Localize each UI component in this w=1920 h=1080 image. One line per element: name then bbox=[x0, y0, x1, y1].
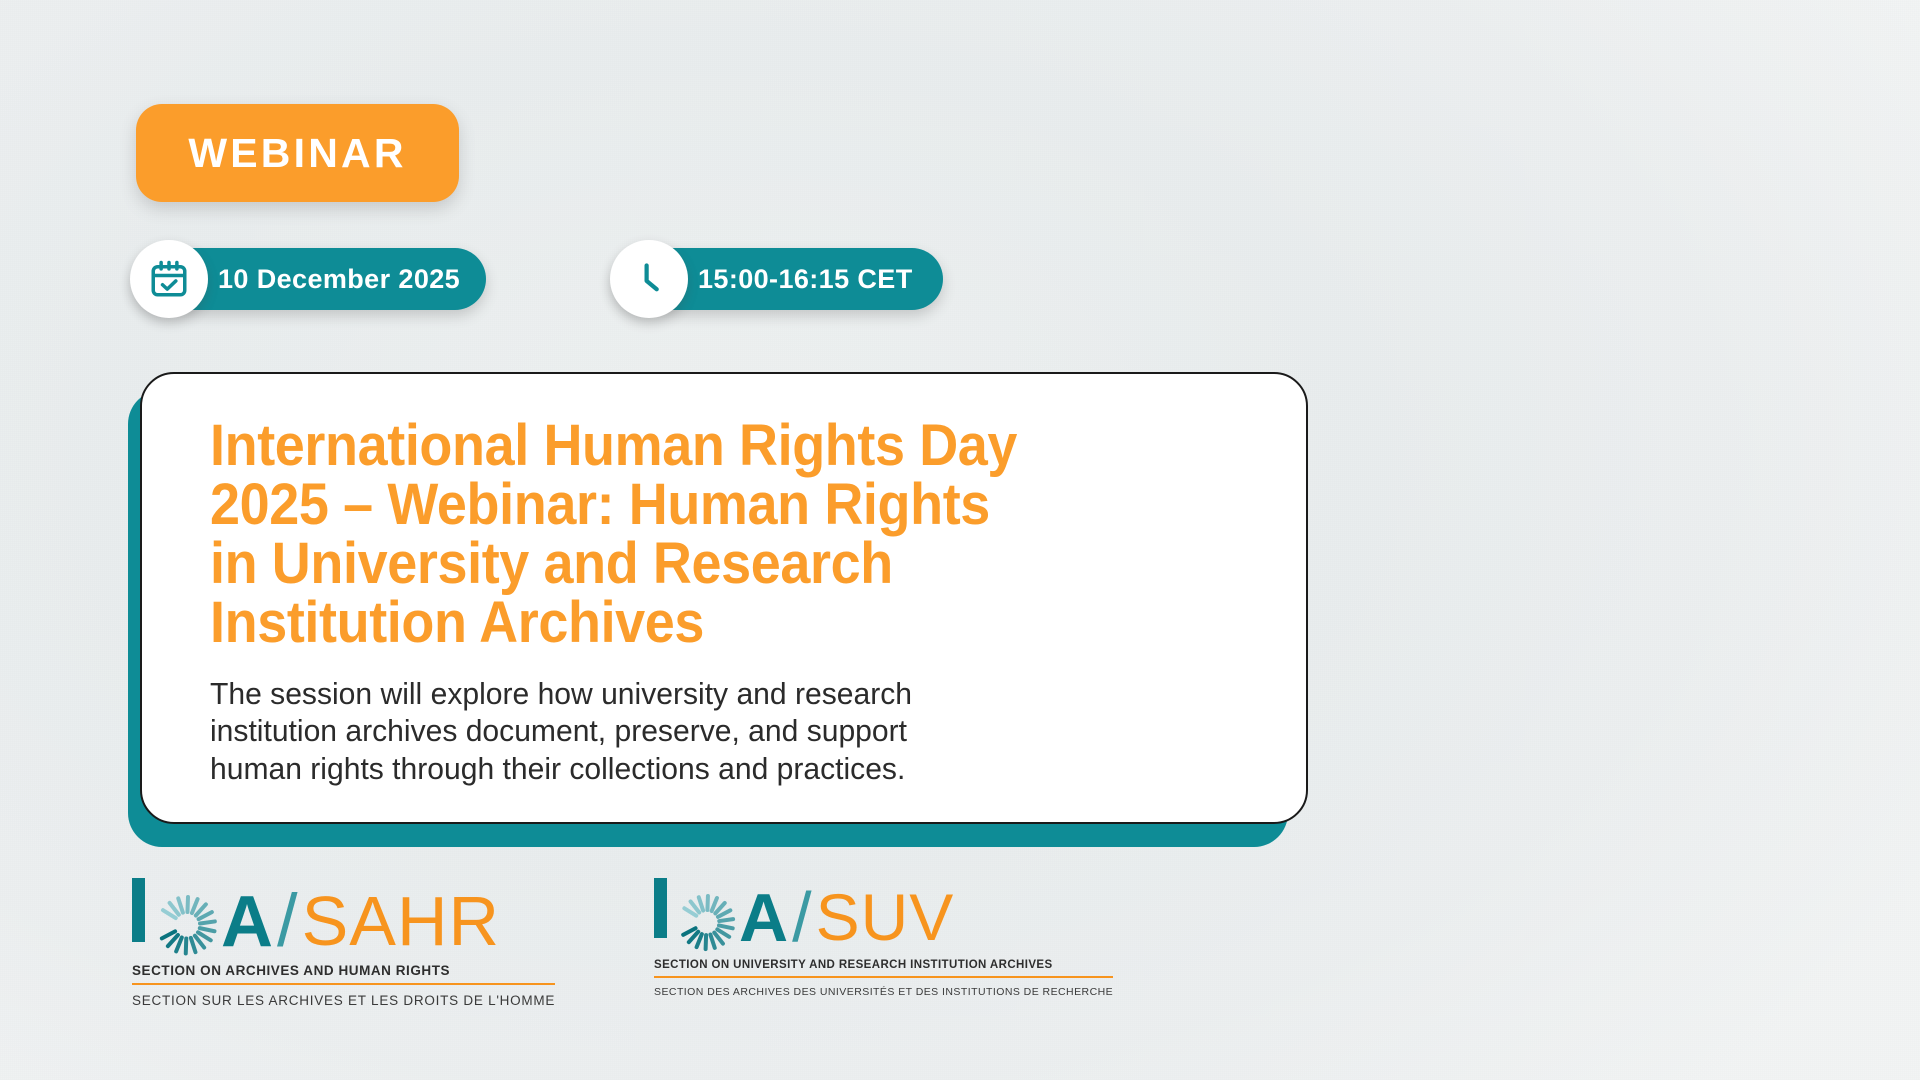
logo-subtitle-en: SECTION ON ARCHIVES AND HUMAN RIGHTS bbox=[132, 963, 555, 978]
logo-letter-a: A bbox=[739, 890, 786, 946]
logo-ica-sahr: A / SAHR SECTION ON ARCHIVES AND HUMAN R… bbox=[132, 874, 555, 1008]
webinar-badge: WEBINAR bbox=[136, 104, 459, 202]
logo-slash: / bbox=[792, 888, 811, 946]
calendar-check-icon bbox=[130, 240, 208, 318]
logo-divider bbox=[654, 976, 1113, 978]
logo-mark: A / SAHR bbox=[132, 874, 555, 950]
logo-letter-i bbox=[132, 878, 145, 942]
event-card: International Human Rights Day 2025 – We… bbox=[128, 372, 1308, 832]
ica-burst-icon bbox=[673, 878, 741, 946]
logo-subtitle-fr: SECTION SUR LES ARCHIVES ET LES DROITS D… bbox=[132, 993, 555, 1008]
webinar-badge-label: WEBINAR bbox=[188, 130, 406, 177]
date-pill-label: 10 December 2025 bbox=[218, 264, 460, 295]
logo-slash: / bbox=[277, 892, 298, 950]
logo-divider bbox=[132, 983, 555, 985]
logo-ica-suv: A / SUV SECTION ON UNIVERSITY AND RESEAR… bbox=[654, 874, 1113, 998]
logo-subtitle-en: SECTION ON UNIVERSITY AND RESEARCH INSTI… bbox=[654, 959, 1113, 971]
clock-icon bbox=[610, 240, 688, 318]
logo-letter-i bbox=[654, 878, 667, 938]
logo-word: SAHR bbox=[302, 892, 500, 950]
event-description: The session will explore how university … bbox=[210, 675, 1219, 788]
time-pill: 15:00-16:15 CET bbox=[614, 248, 943, 310]
logo-letter-a: A bbox=[221, 894, 271, 950]
event-title: International Human Rights Day 2025 – We… bbox=[210, 416, 1177, 653]
poster-canvas: WEBINAR 10 December 2025 15:00-16:15 CET bbox=[0, 0, 1920, 1080]
logo-word: SUV bbox=[816, 888, 955, 946]
card-surface: International Human Rights Day 2025 – We… bbox=[140, 372, 1308, 824]
logo-subtitle-fr: SECTION DES ARCHIVES DES UNIVERSITÉS ET … bbox=[654, 986, 1113, 998]
ica-burst-icon bbox=[151, 878, 223, 950]
time-pill-label: 15:00-16:15 CET bbox=[698, 264, 913, 295]
logo-mark: A / SUV bbox=[654, 874, 1113, 946]
date-pill: 10 December 2025 bbox=[134, 248, 486, 310]
